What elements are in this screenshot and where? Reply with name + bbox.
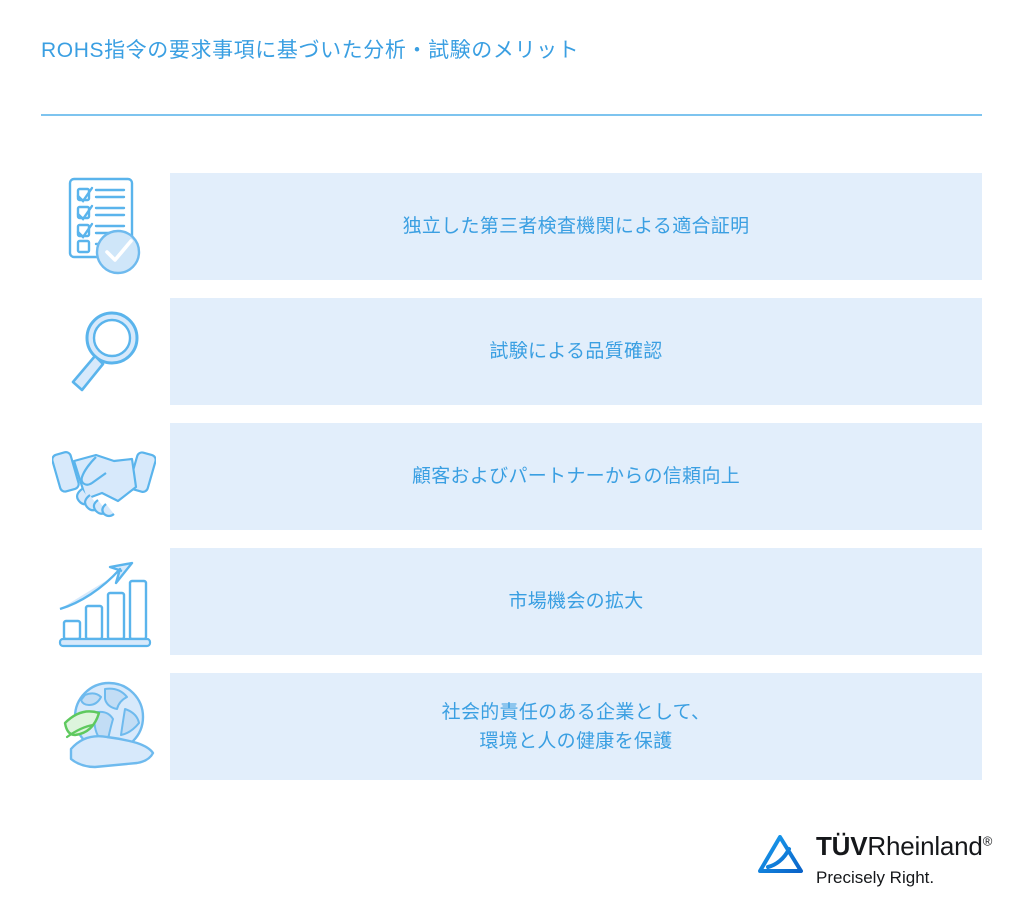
tuv-rheinland-triangle-icon bbox=[758, 835, 803, 880]
magnifying-glass-icon bbox=[48, 298, 160, 405]
logo-text: TÜVRheinland® Precisely Right. bbox=[816, 833, 992, 886]
list-item-label: 市場機会の拡大 bbox=[508, 587, 643, 616]
list-item-label: 独立した第三者検査機関による適合証明 bbox=[403, 212, 750, 241]
list-item: 社会的責任のある企業として、 環境と人の健康を保護 bbox=[0, 673, 1024, 780]
list-item: 独立した第三者検査機関による適合証明 bbox=[0, 173, 1024, 280]
list-item-label: 試験による品質確認 bbox=[489, 337, 662, 366]
checklist-clipboard-icon bbox=[48, 173, 160, 280]
benefits-list: 独立した第三者検査機関による適合証明 試験による品質確認 bbox=[0, 173, 1024, 798]
page-title: ROHS指令の要求事項に基づいた分析・試験のメリット bbox=[41, 34, 579, 64]
label-line-1: 独立した第三者検査機関による適合証明 bbox=[403, 216, 750, 237]
logo-name-regular: Rheinland bbox=[867, 831, 982, 861]
benefit-bar: 社会的責任のある企業として、 環境と人の健康を保護 bbox=[170, 673, 982, 780]
benefit-bar: 顧客およびパートナーからの信頼向上 bbox=[170, 423, 982, 530]
logo-name-bold: TÜV bbox=[816, 831, 867, 861]
logo-wordmark: TÜVRheinland® bbox=[816, 833, 992, 859]
handshake-icon bbox=[48, 423, 160, 530]
logo-tagline: Precisely Right. bbox=[816, 869, 992, 886]
label-line-2: 環境と人の健康を保護 bbox=[442, 727, 711, 756]
list-item-label: 社会的責任のある企業として、 環境と人の健康を保護 bbox=[442, 698, 711, 756]
list-item: 顧客およびパートナーからの信頼向上 bbox=[0, 423, 1024, 530]
label-line-1: 市場機会の拡大 bbox=[508, 591, 643, 612]
benefit-bar: 試験による品質確認 bbox=[170, 298, 982, 405]
label-line-1: 社会的責任のある企業として、 bbox=[442, 702, 711, 723]
list-item: 市場機会の拡大 bbox=[0, 548, 1024, 655]
registered-mark: ® bbox=[983, 833, 992, 848]
label-line-1: 顧客およびパートナーからの信頼向上 bbox=[412, 466, 740, 487]
benefit-bar: 独立した第三者検査機関による適合証明 bbox=[170, 173, 982, 280]
globe-in-hand-leaf-icon bbox=[48, 673, 160, 780]
benefit-bar: 市場機会の拡大 bbox=[170, 548, 982, 655]
list-item: 試験による品質確認 bbox=[0, 298, 1024, 405]
tuv-rheinland-logo: TÜVRheinland® Precisely Right. bbox=[758, 833, 992, 886]
list-item-label: 顧客およびパートナーからの信頼向上 bbox=[412, 462, 740, 491]
slide: ROHS指令の要求事項に基づいた分析・試験のメリット bbox=[0, 0, 1024, 924]
title-divider bbox=[41, 114, 982, 116]
label-line-1: 試験による品質確認 bbox=[489, 341, 662, 362]
growth-bar-chart-icon bbox=[48, 548, 160, 655]
